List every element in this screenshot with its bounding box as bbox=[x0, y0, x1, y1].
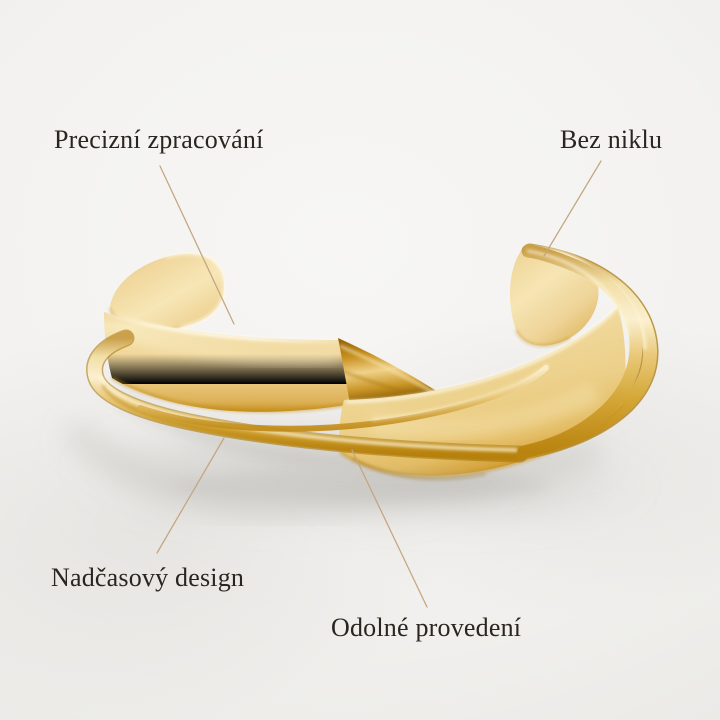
callout-label-durable: Odolné provedení bbox=[331, 614, 521, 643]
bracelet-front-band-left bbox=[104, 312, 352, 412]
callout-label-timeless-design: Nadčasový design bbox=[51, 564, 244, 593]
gold-cuff-bracelet-image bbox=[0, 0, 720, 720]
callout-label-precision: Precizní zpracování bbox=[54, 126, 264, 155]
callout-label-nickel-free: Bez niklu bbox=[560, 126, 662, 155]
product-infographic: Precizní zpracování Bez niklu Nadčasový … bbox=[0, 0, 720, 720]
